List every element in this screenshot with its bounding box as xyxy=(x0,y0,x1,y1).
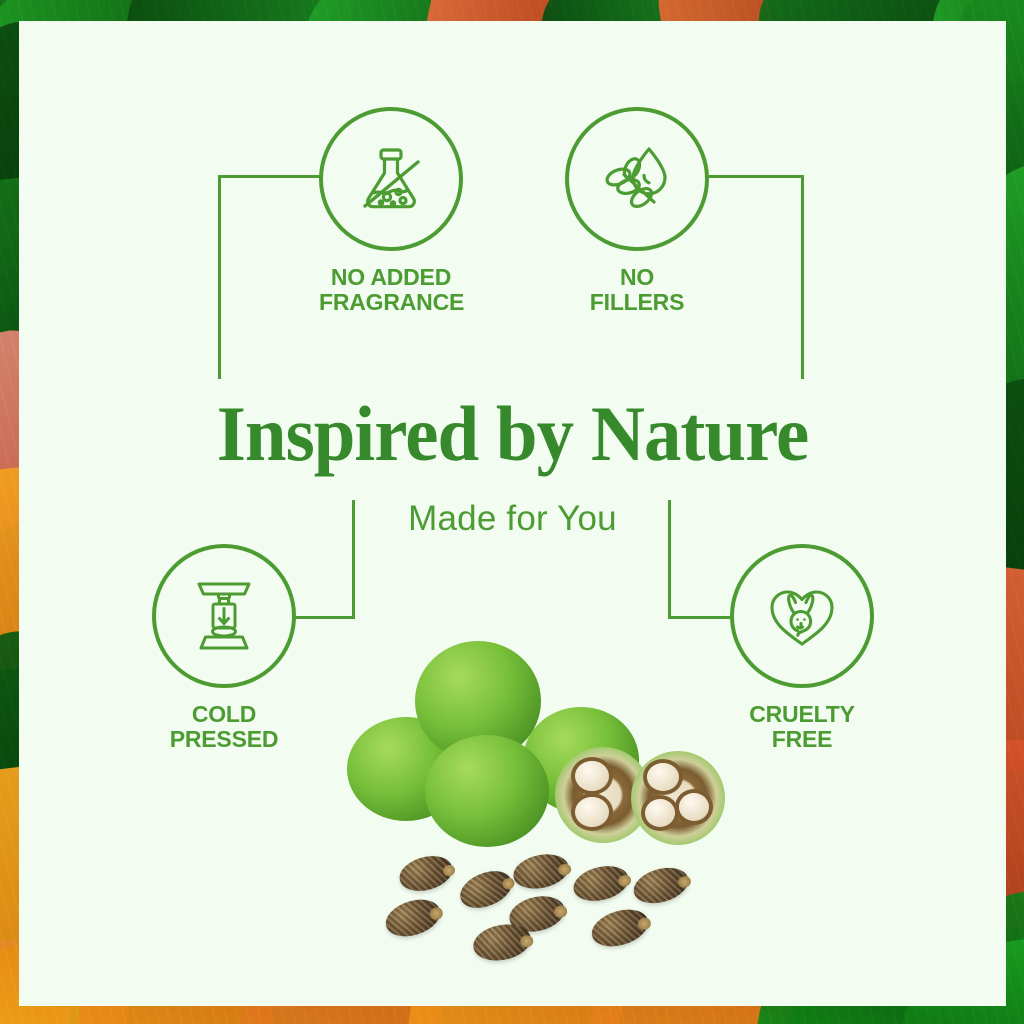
press-machine-icon xyxy=(183,575,265,657)
connector-top-left-vertical xyxy=(218,175,221,379)
badge-ring xyxy=(319,107,463,251)
rabbit-heart-icon xyxy=(759,573,845,659)
connector-bottom-left-horizontal xyxy=(296,616,355,619)
badge-label: NO ADDED FRAGRANCE xyxy=(319,265,463,315)
page-subtitle: Made for You xyxy=(19,499,1006,539)
badge-ring xyxy=(565,107,709,251)
badge-no-fillers: NO FILLERS xyxy=(565,107,709,315)
badge-label: CRUELTY FREE xyxy=(730,702,874,752)
badge-ring xyxy=(730,544,874,688)
badge-no-added-fragrance: NO ADDED FRAGRANCE xyxy=(319,107,463,315)
page-title: Inspired by Nature xyxy=(39,395,987,473)
badge-ring xyxy=(152,544,296,688)
badge-label: NO FILLERS xyxy=(565,265,709,315)
badge-label: COLD PRESSED xyxy=(152,702,296,752)
connector-bottom-right-horizontal xyxy=(668,616,730,619)
content-card: NO ADDED FRAGRANCE NO FILLERS xyxy=(19,21,1006,1006)
droplet-leaves-icon xyxy=(594,136,680,222)
poster: NO ADDED FRAGRANCE NO FILLERS xyxy=(0,0,1024,1024)
badge-cold-pressed: COLD PRESSED xyxy=(152,544,296,752)
connector-top-right-vertical xyxy=(801,175,804,379)
flask-no-fragrance-icon xyxy=(348,136,434,222)
castor-bean-product-image xyxy=(337,629,727,979)
badge-cruelty-free: CRUELTY FREE xyxy=(730,544,874,752)
connector-top-left-horizontal xyxy=(218,175,333,178)
